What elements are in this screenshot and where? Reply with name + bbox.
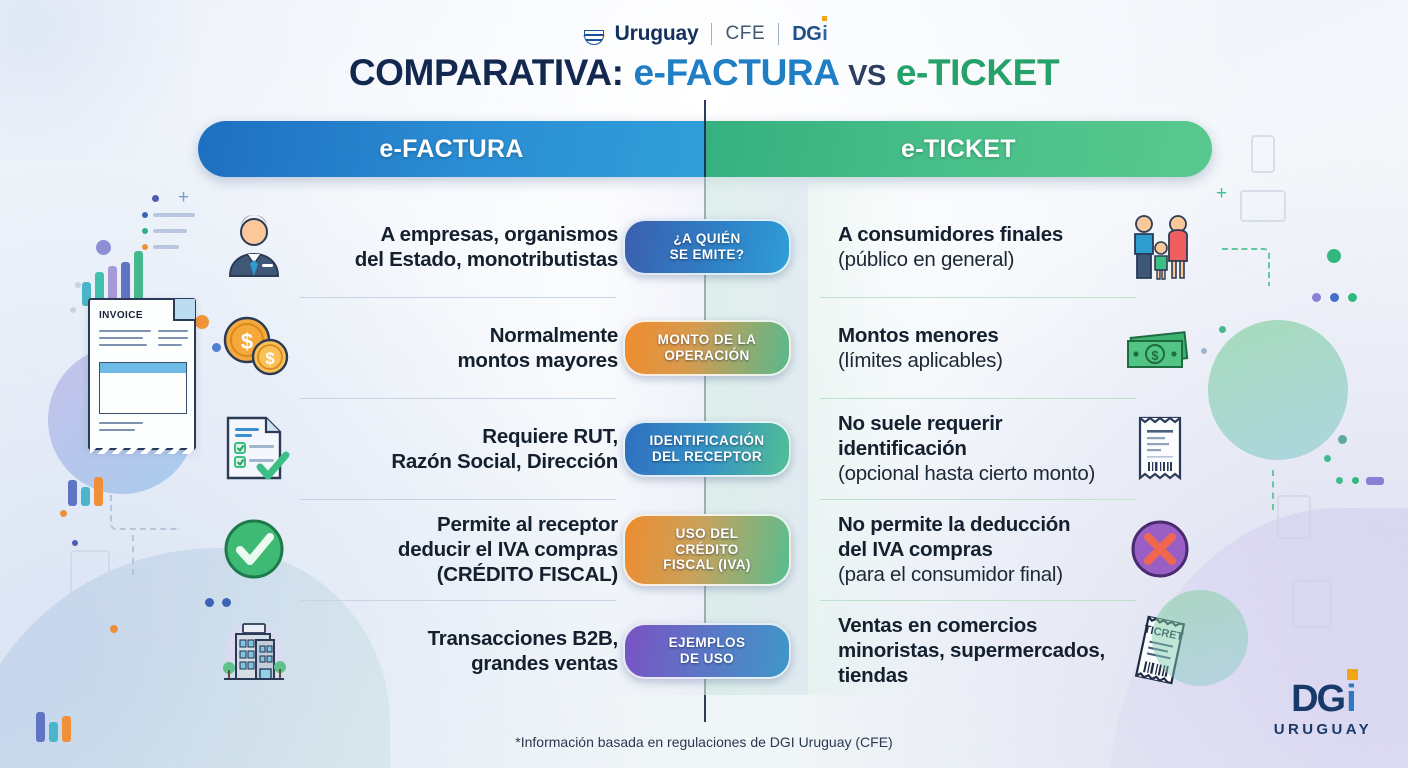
header-efactura: e-FACTURA bbox=[198, 121, 705, 177]
right-cell: No permite la deduccióndel IVA compras(p… bbox=[838, 499, 1150, 600]
brand-separator-2 bbox=[778, 23, 779, 45]
right-cell-line: Ventas en comercios bbox=[838, 613, 1037, 638]
category-pill-line: OPERACIÓN bbox=[664, 348, 749, 364]
right-cell: Ventas en comerciosminoristas, supermerc… bbox=[838, 600, 1150, 701]
right-cell-line: No suele requerir bbox=[838, 411, 1002, 436]
uruguay-sun-icon bbox=[581, 21, 607, 47]
category-pill[interactable]: IDENTIFICACIÓNDEL RECEPTOR bbox=[623, 421, 791, 477]
title-right-term: e-TICKET bbox=[896, 52, 1059, 93]
right-cell-line: minoristas, supermercados, bbox=[838, 638, 1105, 663]
right-cell: A consumidores finales(público en genera… bbox=[838, 196, 1150, 297]
right-cell-line: (opcional hasta cierto monto) bbox=[838, 461, 1095, 486]
businessman-icon bbox=[216, 208, 292, 284]
comparison-row: TICRETTransacciones B2B,grandes ventasVe… bbox=[0, 600, 1408, 701]
infographic-canvas: Uruguay CFE DGi COMPARATIVA: e-FACTURA V… bbox=[0, 0, 1408, 768]
category-pill-line: SE EMITE? bbox=[670, 247, 745, 263]
right-cell-line: (público en general) bbox=[838, 247, 1014, 272]
title-left-term: e-FACTURA bbox=[633, 52, 838, 93]
category-pill[interactable]: USO DELCRÉDITOFISCAL (IVA) bbox=[623, 514, 791, 586]
category-pill-line: MONTO DE LA bbox=[658, 332, 757, 348]
dgi-logo-small: DGi bbox=[792, 23, 827, 46]
left-cell-line: grandes ventas bbox=[471, 651, 618, 676]
right-cell-line: No permite la deducción bbox=[838, 512, 1070, 537]
left-cell: A empresas, organismosdel Estado, monotr… bbox=[296, 196, 618, 297]
left-cell-line: Transacciones B2B, bbox=[428, 626, 618, 651]
brand-bar: Uruguay CFE DGi bbox=[0, 18, 1408, 50]
svg-text:$: $ bbox=[265, 349, 275, 368]
title-prefix: COMPARATIVA: bbox=[349, 52, 624, 93]
left-cell: Transacciones B2B,grandes ventas bbox=[296, 600, 618, 701]
left-cell-line: Normalmente bbox=[490, 323, 618, 348]
dgi-large-i: i bbox=[1346, 680, 1355, 718]
category-pill[interactable]: MONTO DE LAOPERACIÓN bbox=[623, 320, 791, 376]
right-cell-line: tiendas bbox=[838, 663, 908, 688]
dgi-large-subtitle: URUGUAY bbox=[1274, 721, 1372, 738]
left-cell-line: montos mayores bbox=[457, 348, 618, 373]
left-cell: Permite al receptordeducir el IVA compra… bbox=[296, 499, 618, 600]
right-cell-line: (límites aplicables) bbox=[838, 348, 1003, 373]
brand-separator-1 bbox=[711, 23, 712, 45]
category-pill[interactable]: ¿A QUIÉNSE EMITE? bbox=[623, 219, 791, 275]
category-pill[interactable]: EJEMPLOSDE USO bbox=[623, 623, 791, 679]
checklist-document-icon bbox=[216, 410, 292, 486]
comparison-row: Requiere RUT,Razón Social, DirecciónNo s… bbox=[0, 398, 1408, 499]
right-cell-line: Montos menores bbox=[838, 323, 999, 348]
coins-icon: $$ bbox=[216, 309, 292, 385]
uruguay-label: Uruguay bbox=[615, 22, 699, 46]
comparison-row: $$$Normalmentemontos mayoresMontos menor… bbox=[0, 297, 1408, 398]
category-pill-line: ¿A QUIÉN bbox=[673, 231, 740, 247]
dgi-small-i: i bbox=[822, 23, 827, 46]
right-cell: No suele requeriridentificación(opcional… bbox=[838, 398, 1150, 499]
page-title: COMPARATIVA: e-FACTURA VS e-TICKET bbox=[0, 52, 1408, 94]
dgi-small-dg: DG bbox=[792, 23, 821, 46]
right-cell: Montos menores(límites aplicables) bbox=[838, 297, 1150, 398]
right-cell-line: identificación bbox=[838, 436, 967, 461]
phone-ghost-icon bbox=[1251, 135, 1275, 173]
uruguay-logo: Uruguay bbox=[581, 21, 699, 47]
cfe-label: CFE bbox=[725, 23, 765, 45]
left-cell-line: del Estado, monotributistas bbox=[355, 247, 618, 272]
office-building-icon bbox=[216, 612, 292, 688]
category-pill-line: DEL RECEPTOR bbox=[652, 449, 762, 465]
dgi-logo-large: DGi URUGUAY bbox=[1274, 680, 1372, 738]
green-check-circle-icon bbox=[216, 511, 292, 587]
title-vs: VS bbox=[848, 60, 886, 92]
comparison-row: A empresas, organismosdel Estado, monotr… bbox=[0, 196, 1408, 297]
right-cell-line: (para el consumidor final) bbox=[838, 562, 1063, 587]
category-pill-line: USO DEL bbox=[676, 526, 739, 542]
category-pill-line: IDENTIFICACIÓN bbox=[649, 433, 764, 449]
dgi-large-dg: DG bbox=[1291, 680, 1344, 718]
category-pill-line: DE USO bbox=[680, 651, 734, 667]
left-cell-line: A empresas, organismos bbox=[380, 222, 618, 247]
right-cell-line: A consumidores finales bbox=[838, 222, 1063, 247]
left-cell: Normalmentemontos mayores bbox=[296, 297, 618, 398]
left-cell-line: (CRÉDITO FISCAL) bbox=[437, 562, 618, 587]
svg-text:$: $ bbox=[1151, 348, 1159, 363]
comparison-row: Permite al receptordeducir el IVA compra… bbox=[0, 499, 1408, 600]
right-cell-line: del IVA compras bbox=[838, 537, 993, 562]
left-cell: Requiere RUT,Razón Social, Dirección bbox=[296, 398, 618, 499]
footer-note: *Información basada en regulaciones de D… bbox=[0, 734, 1408, 750]
category-pill-line: EJEMPLOS bbox=[669, 635, 746, 651]
left-cell-line: deducir el IVA compras bbox=[398, 537, 618, 562]
left-cell-line: Razón Social, Dirección bbox=[391, 449, 618, 474]
header-eticket: e-TICKET bbox=[705, 121, 1212, 177]
left-cell-line: Requiere RUT, bbox=[482, 424, 618, 449]
category-pill-line: CRÉDITO bbox=[675, 542, 738, 558]
comparison-rows: A empresas, organismosdel Estado, monotr… bbox=[0, 196, 1408, 701]
left-cell-line: Permite al receptor bbox=[437, 512, 618, 537]
category-pill-line: FISCAL (IVA) bbox=[663, 557, 751, 573]
svg-text:$: $ bbox=[241, 329, 253, 354]
